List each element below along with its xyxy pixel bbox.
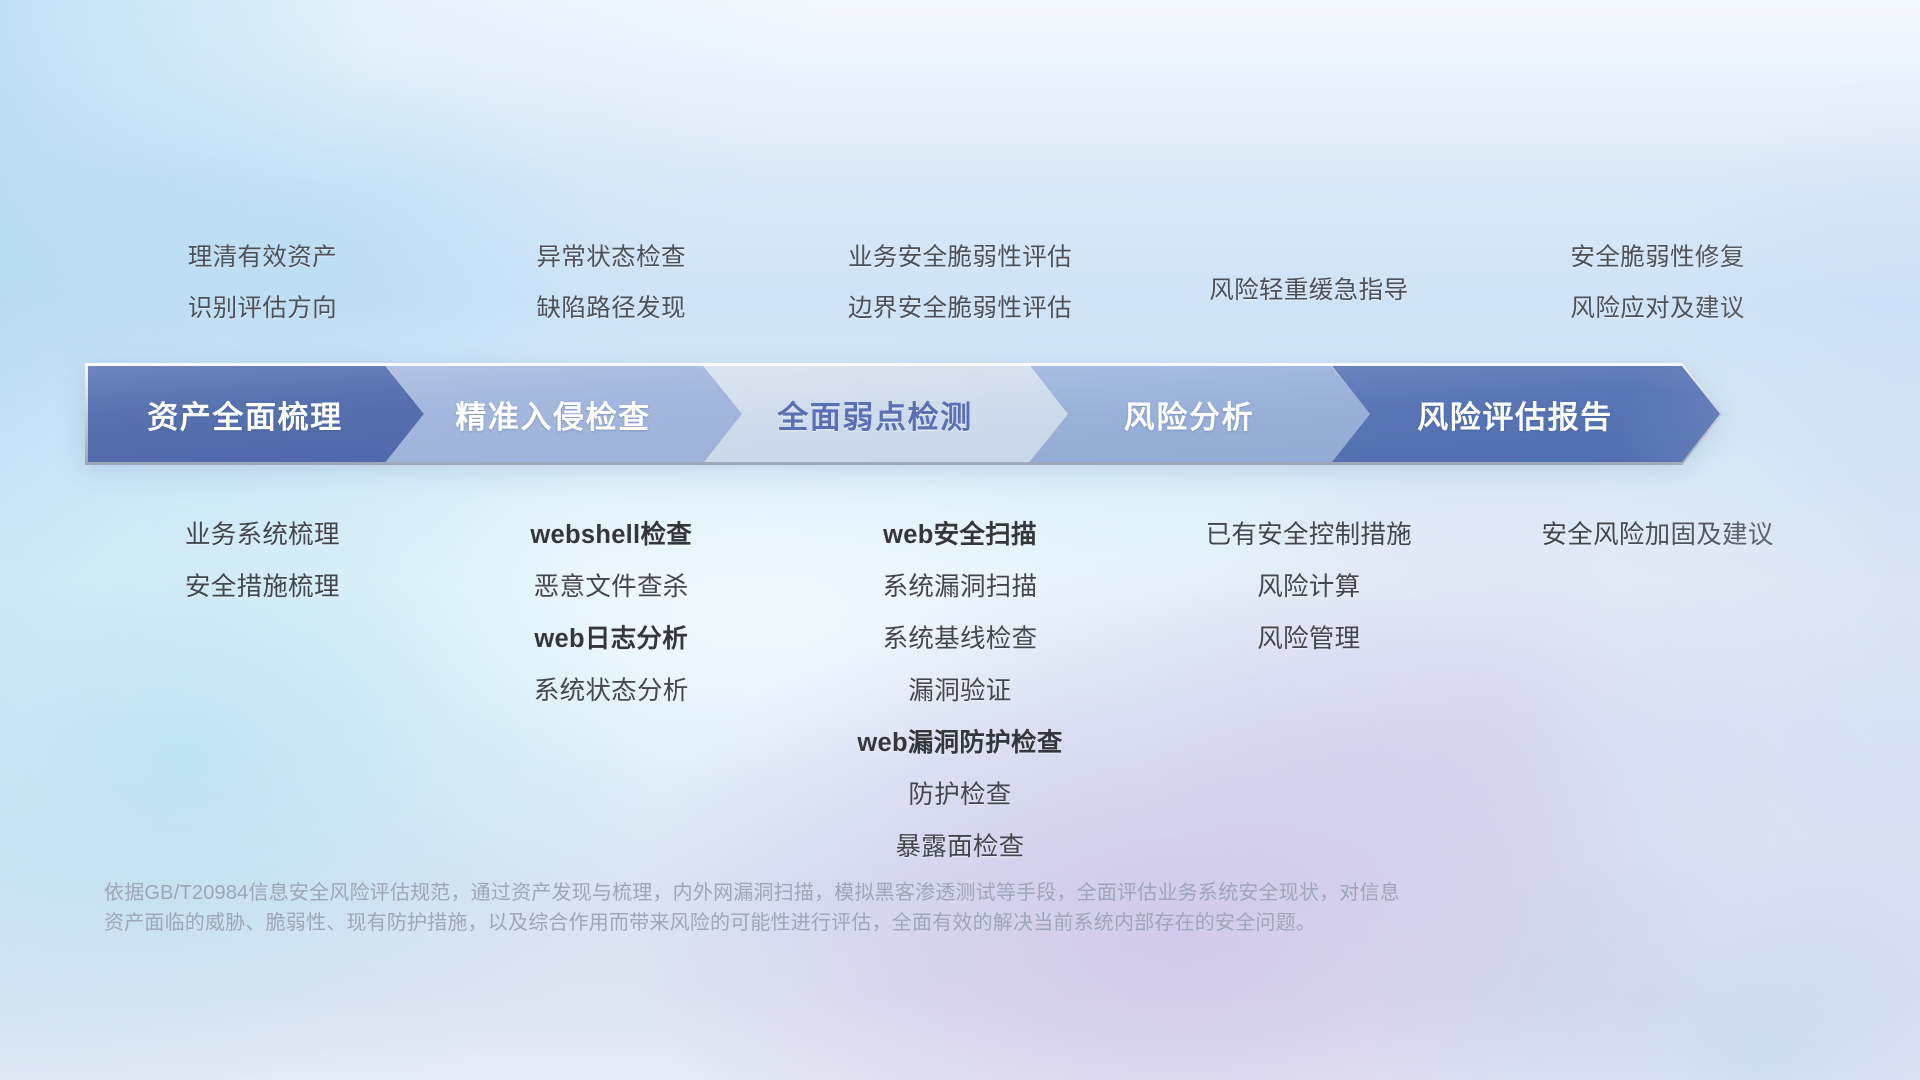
process-step-3[interactable]: 全面弱点检测 (704, 366, 1068, 462)
process-step-5[interactable]: 风险评估报告 (1332, 366, 1720, 462)
stage-tasks-row: 业务系统梳理安全措施梳理webshell检查恶意文件查杀web日志分析系统状态分… (88, 514, 1832, 863)
task-item: 系统状态分析 (534, 670, 689, 707)
process-step-1[interactable]: 资产全面梳理 (88, 366, 424, 462)
task-item: 暴露面检查 (895, 826, 1024, 863)
stage-2-tasks: webshell检查恶意文件查杀web日志分析系统状态分析 (437, 514, 786, 707)
stage-4-tasks: 已有安全控制措施风险计算风险管理 (1134, 514, 1483, 655)
task-item: 系统基线检查 (883, 618, 1038, 655)
stage-4-inputs: 风险轻重缓急指导 (1134, 238, 1483, 324)
slide-content: 理清有效资产识别评估方向异常状态检查缺陷路径发现业务安全脆弱性评估边界安全脆弱性… (0, 0, 1920, 1080)
stage-5-tasks: 安全风险加固及建议 (1483, 514, 1832, 551)
process-step-4[interactable]: 风险分析 (1030, 366, 1370, 462)
task-item: 已有安全控制措施 (1206, 514, 1412, 551)
slide-canvas: 理清有效资产识别评估方向异常状态检查缺陷路径发现业务安全脆弱性评估边界安全脆弱性… (0, 0, 1920, 1080)
task-item: 恶意文件查杀 (534, 566, 689, 603)
task-item: 防护检查 (908, 774, 1011, 811)
task-item: 系统漏洞扫描 (883, 566, 1038, 603)
stage-3-tasks: web安全扫描系统漏洞扫描系统基线检查漏洞验证web漏洞防护检查防护检查暴露面检… (786, 514, 1135, 863)
process-step-2[interactable]: 精准入侵检查 (386, 366, 742, 462)
task-item: webshell检查 (530, 514, 692, 551)
task-item: 安全风险加固及建议 (1541, 514, 1773, 551)
stage-2-inputs: 异常状态检查缺陷路径发现 (437, 238, 786, 324)
process-step-label: 精准入侵检查 (455, 392, 651, 437)
task-item: 漏洞验证 (908, 670, 1011, 707)
stage-1-inputs: 理清有效资产识别评估方向 (88, 238, 437, 324)
input-item: 边界安全脆弱性评估 (848, 289, 1072, 324)
task-item: web漏洞防护检查 (857, 722, 1062, 759)
stage-inputs-row: 理清有效资产识别评估方向异常状态检查缺陷路径发现业务安全脆弱性评估边界安全脆弱性… (88, 238, 1832, 324)
input-item: 缺陷路径发现 (536, 289, 685, 324)
process-step-label: 风险评估报告 (1417, 392, 1613, 437)
input-item: 安全脆弱性修复 (1570, 238, 1744, 273)
task-item: 风险管理 (1257, 618, 1360, 655)
input-item: 异常状态检查 (536, 238, 685, 273)
stage-3-inputs: 业务安全脆弱性评估边界安全脆弱性评估 (786, 238, 1135, 324)
stage-5-inputs: 安全脆弱性修复风险应对及建议 (1483, 238, 1832, 324)
task-item: 业务系统梳理 (185, 514, 340, 551)
stage-1-tasks: 业务系统梳理安全措施梳理 (88, 514, 437, 603)
input-item: 识别评估方向 (188, 289, 337, 324)
footer-line-2: 资产面临的威胁、脆弱性、现有防护措施，以及综合作用而带来风险的可能性进行评估，全… (104, 908, 1624, 938)
process-step-label: 风险分析 (1124, 392, 1254, 437)
task-item: web安全扫描 (883, 514, 1037, 551)
task-item: 安全措施梳理 (185, 566, 340, 603)
input-item: 理清有效资产 (188, 238, 337, 273)
process-step-label: 资产全面梳理 (147, 392, 343, 437)
process-step-label: 全面弱点检测 (777, 392, 973, 437)
input-item: 业务安全脆弱性评估 (848, 238, 1072, 273)
task-item: 风险计算 (1257, 566, 1360, 603)
process-arrow-banner: 资产全面梳理精准入侵检查全面弱点检测风险分析风险评估报告 (88, 366, 1832, 462)
footer-line-1: 依据GB/T20984信息安全风险评估规范，通过资产发现与梳理，内外网漏洞扫描，… (104, 878, 1624, 908)
task-item: web日志分析 (534, 618, 688, 655)
input-item: 风险轻重缓急指导 (1209, 271, 1408, 306)
footer-description: 依据GB/T20984信息安全风险评估规范，通过资产发现与梳理，内外网漏洞扫描，… (104, 878, 1624, 938)
input-item: 风险应对及建议 (1570, 289, 1744, 324)
